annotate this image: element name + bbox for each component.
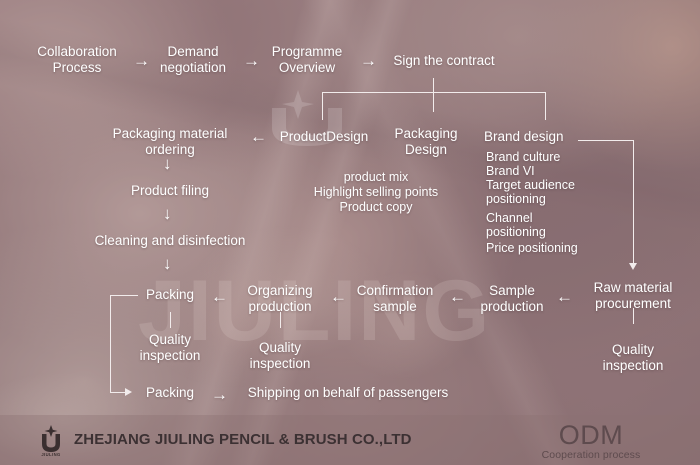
arrow-confirmation-to-organizing: ←	[330, 288, 347, 305]
jiuling-logo-icon	[38, 425, 64, 455]
node-quality-inspection-raw-material: Quality inspection	[593, 342, 673, 373]
arrow-demand-to-programme: →	[243, 52, 260, 69]
flowchart-canvas: JIULING Collaboration Process → Demand n…	[0, 0, 700, 465]
arrow-packing-to-shipping: →	[211, 386, 228, 403]
node-cleaning-and-disinfection: Cleaning and disinfection	[74, 233, 266, 249]
arrowhead-packing-lower	[125, 388, 132, 396]
arrow-product-filing-to-cleaning: ↓	[163, 205, 172, 222]
connector-brand-to-raw-v	[633, 140, 634, 264]
detail-product-mix: product mix	[292, 170, 460, 185]
detail-target-audience-positioning: positioning	[486, 192, 606, 207]
odm-badge-title: ODM	[516, 420, 666, 451]
detail-channel: Channel	[486, 211, 606, 226]
detail-product-copy: Product copy	[292, 200, 460, 215]
logo-caption: JIULING	[38, 452, 64, 457]
arrow-raw-material-to-sample-production: ←	[556, 288, 573, 305]
connector-sign-stem	[433, 78, 434, 112]
arrow-collaboration-to-demand: →	[133, 52, 150, 69]
node-demand-negotiation: Demand negotiation	[150, 44, 236, 75]
arrow-sample-production-to-confirmation: ←	[449, 288, 466, 305]
node-quality-inspection-production: Quality inspection	[240, 340, 320, 371]
node-confirmation-sample: Confirmation sample	[348, 283, 442, 314]
connector-drop-brand-design	[545, 92, 546, 120]
company-name: ZHEJIANG JIULING PENCIL & BRUSH CO.,LTD	[74, 431, 412, 448]
node-sign-the-contract: Sign the contract	[382, 53, 506, 69]
node-product-filing: Product filing	[110, 183, 230, 199]
connector-packing-quality-stem	[170, 312, 171, 328]
arrowhead-raw-material	[629, 263, 637, 270]
detail-channel-positioning: positioning	[486, 225, 606, 240]
odm-badge-subtitle: Cooperation process	[516, 449, 666, 461]
node-packing-upper: Packing	[137, 287, 203, 303]
node-programme-overview: Programme Overview	[261, 44, 353, 75]
detail-brand-culture: Brand culture	[486, 150, 606, 165]
node-brand-design: Brand design	[484, 129, 594, 145]
arrow-programme-to-sign: →	[360, 52, 377, 69]
connector-design-bar	[322, 92, 546, 93]
connector-raw-material-quality-stem	[633, 308, 634, 324]
node-organizing-production: Organizing production	[236, 283, 324, 314]
node-collaboration-process: Collaboration Process	[18, 44, 136, 75]
node-raw-material-procurement: Raw material procurement	[574, 280, 692, 311]
node-quality-inspection-packing: Quality inspection	[130, 332, 210, 363]
arrow-packaging-material-to-product-filing: ↓	[163, 155, 172, 172]
node-packaging-material-ordering: Packaging material ordering	[96, 126, 244, 157]
detail-brand-vi: Brand VI	[486, 164, 606, 179]
arrow-cleaning-to-packing: ↓	[163, 255, 172, 272]
detail-price-positioning: Price positioning	[486, 241, 606, 256]
node-packing-lower: Packing	[137, 385, 203, 401]
connector-brand-to-raw-h	[578, 140, 634, 141]
detail-highlight-selling-points: Highlight selling points	[292, 185, 460, 200]
node-packaging-design: Packaging Design	[388, 126, 464, 157]
node-sample-production: Sample production	[470, 283, 554, 314]
node-product-design: ProductDesign	[272, 129, 376, 145]
connector-production-quality-stem	[280, 312, 281, 328]
node-shipping-on-behalf: Shipping on behalf of passengers	[234, 385, 462, 401]
connector-drop-product-design	[322, 92, 323, 120]
connector-packing-loop-bottom	[110, 392, 126, 393]
arrow-organizing-to-packing: ←	[211, 288, 228, 305]
connector-packing-loop-top	[110, 295, 138, 296]
footer-bar: JIULING ZHEJIANG JIULING PENCIL & BRUSH …	[0, 415, 700, 465]
connector-packing-loop-side	[110, 295, 111, 393]
arrow-product-design-to-packaging-material: ←	[250, 128, 267, 145]
detail-target-audience: Target audience	[486, 178, 606, 193]
